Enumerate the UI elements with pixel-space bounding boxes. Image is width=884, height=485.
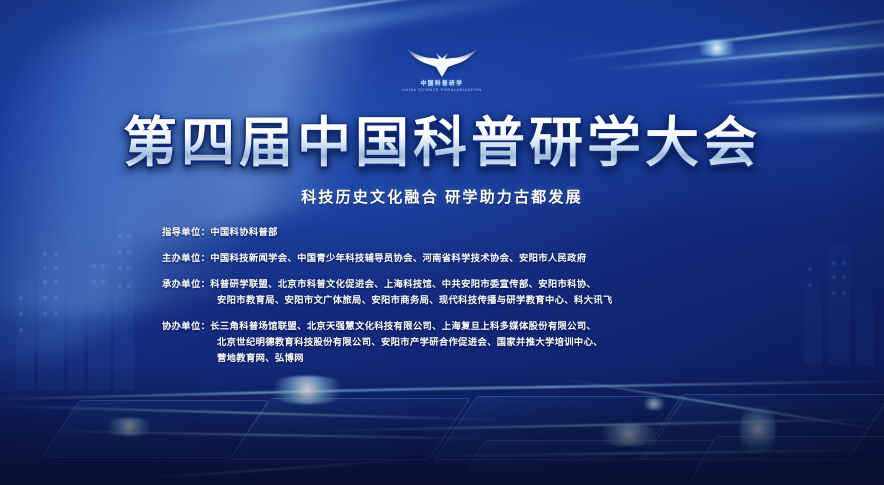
organization-value: 中国科技新闻学会、中国青少年科技辅导员协会、河南省科学技术协会、安阳市人民政府 [210,250,762,266]
logo: 中国科普研学 CHINA SCIENCE POPULARIZATION [0,44,884,92]
conference-banner: 中国科普研学 CHINA SCIENCE POPULARIZATION 第四届中… [0,0,884,485]
organization-label: 承办单位： [162,276,210,292]
logo-text: 中国科普研学 [421,79,464,87]
organization-block: 承办单位： 科普研学联盟、北京市科普文化促进会、上海科技馆、中共安阳市委宣传部、… [162,276,762,308]
page-title: 第四届中国科普研学大会 [0,113,884,173]
organization-value: 科普研学联盟、北京市科普文化促进会、上海科技馆、中共安阳市委宣传部、安阳市科协、 [210,276,762,292]
organization-list: 指导单位： 中国科协科普部 主办单位： 中国科技新闻学会、中国青少年科技辅导员协… [162,224,762,366]
organization-label: 指导单位： [162,224,210,240]
organization-block: 协办单位： 长三角科普场馆联盟、北京天强慧文化科技有限公司、上海复旦上科多媒体股… [162,318,762,366]
organization-block: 指导单位： 中国科协科普部 [162,224,762,240]
organization-value-continued: 安阳市教育局、安阳市文广体旅局、安阳市商务局、现代科技传播与研学教育中心、科大讯… [162,292,762,308]
organization-block: 主办单位： 中国科技新闻学会、中国青少年科技辅导员协会、河南省科学技术协会、安阳… [162,250,762,266]
organization-value: 长三角科普场馆联盟、北京天强慧文化科技有限公司、上海复旦上科多媒体股份有限公司、 [210,318,762,334]
eagle-wings-logo-icon [406,44,478,78]
organization-value-continued: 营地教育网、弘博网 [162,350,762,366]
organization-value: 中国科协科普部 [210,224,762,240]
page-subtitle: 科技历史文化融合 研学助力古都发展 [0,186,884,207]
logo-subtext: CHINA SCIENCE POPULARIZATION [402,88,482,92]
organization-value-continued: 北京世纪明德教育科技股份有限公司、安阳市产学研合作促进会、国家并推大学培训中心、 [162,334,762,350]
organization-label: 协办单位： [162,318,210,334]
organization-label: 主办单位： [162,250,210,266]
